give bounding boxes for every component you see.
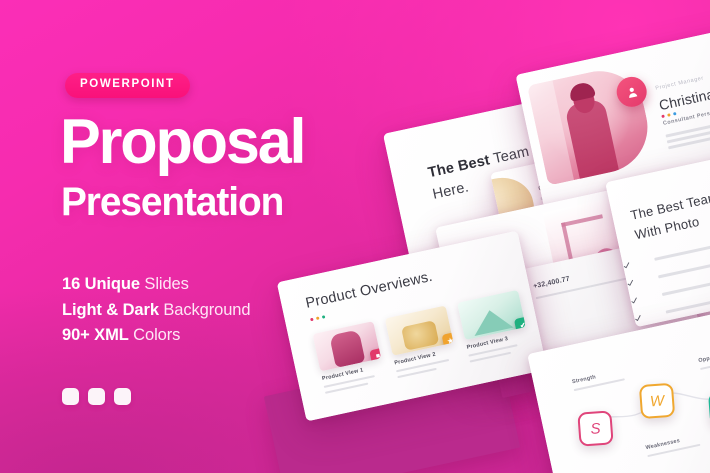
- feature-rest-slides: Slides: [140, 275, 189, 293]
- feature-bold-background: Light & Dark: [62, 301, 159, 319]
- carousel-dot-1[interactable]: [62, 388, 79, 405]
- slide-title-line2: Here.: [431, 179, 470, 202]
- check-icon: [626, 279, 634, 287]
- powerpoint-badge: POWERPOINT: [65, 73, 190, 98]
- user-icon: [623, 83, 641, 101]
- hero-column: POWERPOINT Proposal Presentation 16 Uniq…: [0, 0, 360, 473]
- feature-rest-background: Background: [159, 301, 251, 319]
- powerpoint-badge-label: POWERPOINT: [80, 79, 175, 91]
- feature-item-colors: 90+ XML Colors: [62, 323, 250, 349]
- carousel-dots[interactable]: [62, 388, 131, 405]
- dot-blue: [673, 112, 677, 116]
- feature-bold-colors: 90+ XML: [62, 326, 129, 344]
- feature-item-slides: 16 Unique Slides: [62, 272, 250, 298]
- feature-list: 16 Unique Slides Light & Dark Background…: [62, 272, 250, 349]
- page-subtitle: Presentation: [61, 182, 283, 222]
- photo-figure-body: [564, 98, 620, 183]
- product-image-2: [401, 320, 439, 351]
- carousel-dot-3[interactable]: [114, 388, 131, 405]
- feature-item-background: Light & Dark Background: [62, 298, 250, 324]
- photo-bar: [561, 214, 603, 227]
- stat-value: +32,400.77: [533, 276, 571, 291]
- page-title: Proposal: [60, 113, 304, 172]
- dot-pink: [661, 115, 665, 119]
- feature-rest-colors: Colors: [129, 326, 181, 344]
- check-icon: [634, 314, 642, 322]
- swot-tile-s[interactable]: S: [577, 410, 613, 446]
- feature-bold-slides: 16 Unique: [62, 275, 140, 293]
- check-icon: [622, 261, 630, 269]
- swot-tile-w[interactable]: W: [639, 383, 675, 419]
- check-icon: [630, 296, 638, 304]
- carousel-dot-2[interactable]: [88, 388, 105, 405]
- dot-orange: [667, 113, 671, 117]
